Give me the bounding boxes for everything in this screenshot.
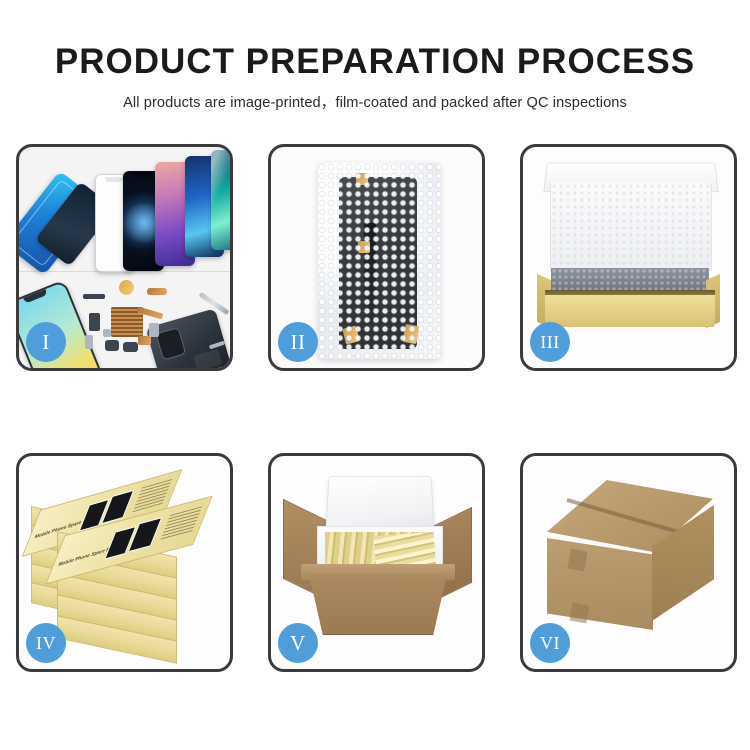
foam-lid-icon [325, 476, 434, 532]
step-badge-2: II [278, 322, 318, 362]
carton-tape-lower-icon [570, 603, 590, 624]
earpiece-mesh-icon [123, 342, 138, 352]
foam-texture [551, 183, 711, 271]
carton-front-face-icon [547, 538, 653, 630]
step-panel-sealed-shipping-carton[interactable]: VI [520, 453, 737, 672]
page-subtitle: All products are image-printed，film-coat… [0, 80, 750, 112]
header: PRODUCT PREPARATION PROCESS All products… [0, 0, 750, 112]
white-foam-liner-icon [550, 183, 712, 271]
yellow-box-front-icon [545, 295, 715, 327]
battery-connector-icon [149, 323, 159, 337]
steps-grid: I II [16, 144, 738, 672]
phone-teal-screen-icon [211, 150, 230, 250]
step-panel-foam-inner-box[interactable]: III [520, 144, 737, 371]
step-badge-4: IV [26, 623, 66, 663]
vibrator-motor-icon [105, 340, 119, 351]
screw-set-icon [103, 329, 111, 337]
carton-body-icon [309, 574, 447, 635]
step-panel-product-assortment[interactable]: I [16, 144, 233, 371]
speaker-part-icon [119, 280, 134, 295]
retail-box-spec-lines [160, 506, 202, 540]
charging-port-icon [138, 336, 151, 345]
camera-module-icon [89, 313, 100, 331]
step-panel-carton-with-foam-liner[interactable]: V [268, 453, 485, 672]
antenna-strip-icon [83, 294, 105, 299]
page-title: PRODUCT PREPARATION PROCESS [0, 0, 750, 80]
step-badge-1: I [26, 322, 66, 362]
step-panel-bubble-wrap-packing[interactable]: II [268, 144, 485, 371]
step-panel-retail-box-stack[interactable]: Mobile Phone Spare Parts Mobile Phone Sp… [16, 453, 233, 672]
step-badge-5: V [278, 623, 318, 663]
step-badge-6: VI [530, 623, 570, 663]
sim-tray-icon [85, 335, 93, 349]
carton-tape-upper-icon [567, 549, 587, 572]
product-preparation-infographic: PRODUCT PREPARATION PROCESS All products… [0, 0, 750, 750]
bubble-texture [318, 163, 440, 359]
bubble-wrap-bag-icon [318, 163, 440, 359]
step-badge-3: III [530, 322, 570, 362]
flex-connector-icon [147, 288, 167, 295]
